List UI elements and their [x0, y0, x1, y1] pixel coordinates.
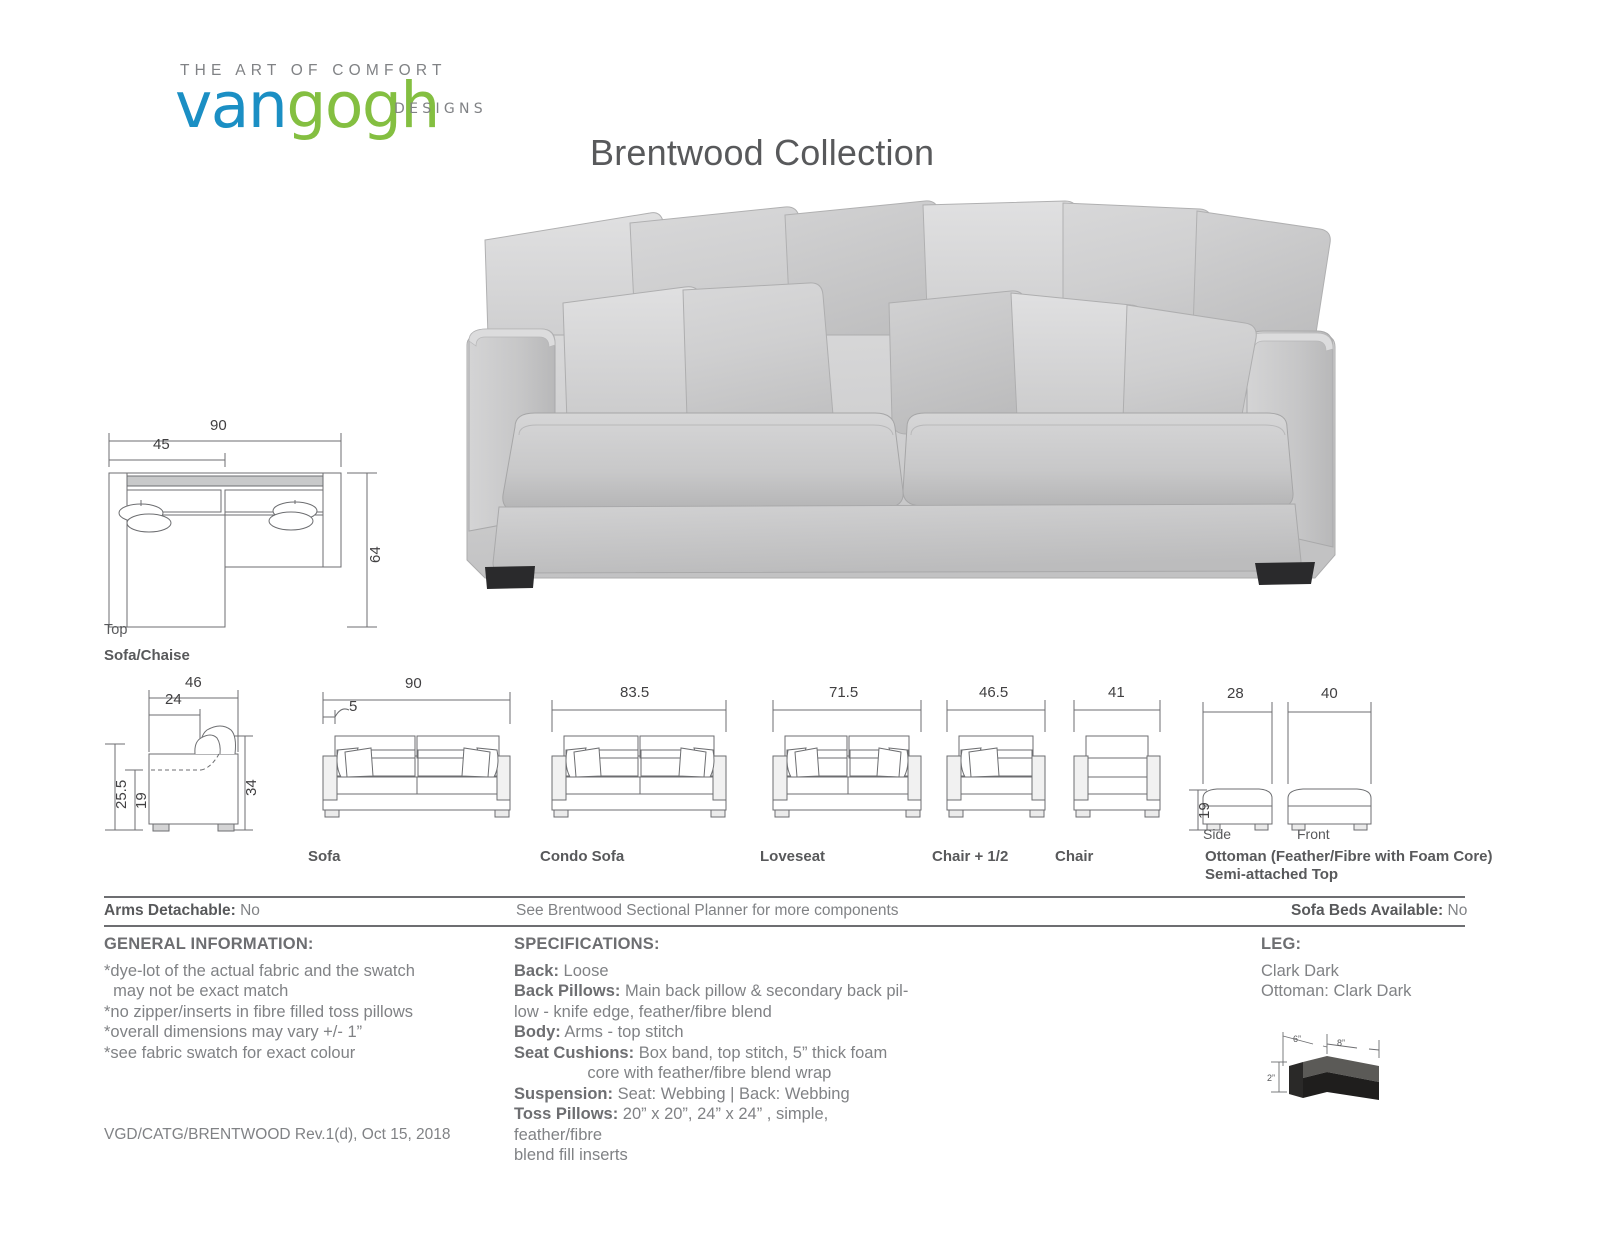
- spec-value: Box band, top stitch, 5” thick foam: [634, 1044, 887, 1062]
- divider-top: [104, 896, 1465, 898]
- divider-bottom: [104, 925, 1465, 927]
- brand-suffix: DESIGNS: [394, 79, 487, 139]
- leg-heading: LEG:: [1261, 934, 1541, 955]
- spec-value: Seat: Webbing | Back: Webbing: [613, 1085, 850, 1103]
- spec-row: core with feather/fibre blend wrap: [514, 1063, 914, 1084]
- arms-detachable-label: Arms Detachable:: [104, 902, 236, 919]
- general-information-line: *dye-lot of the actual fabric and the sw…: [104, 961, 504, 982]
- top-view-label: Top: [104, 622, 127, 638]
- leg-finish: Clark Dark: [1261, 961, 1541, 982]
- spec-value: blend fill inserts: [514, 1146, 628, 1164]
- general-information-line: may not be exact match: [104, 981, 504, 1002]
- spec-row: blend fill inserts: [514, 1145, 914, 1166]
- spec-value: Loose: [559, 962, 609, 980]
- top-view-width-label: 90: [210, 417, 227, 434]
- spec-label: Back Pillows:: [514, 982, 620, 1000]
- spec-value: low - knife edge, feather/fibre blend: [514, 1003, 772, 1021]
- side-seat-height-label: 19: [133, 792, 150, 809]
- ottoman-leg-finish: Ottoman: Clark Dark: [1261, 981, 1541, 1002]
- spec-value: core with feather/fibre blend wrap: [514, 1064, 831, 1082]
- brand-wordmark: vangogh DESIGNS: [175, 76, 485, 136]
- spec-row: Body: Arms - top stitch: [514, 1022, 914, 1043]
- side-arm-height-label: 34: [243, 779, 260, 796]
- spec-label: Back:: [514, 962, 559, 980]
- catalog-page: THE ART OF COMFORT vangogh DESIGNS Brent…: [0, 0, 1600, 1236]
- ottoman-front-label: Front: [1297, 826, 1330, 842]
- spec-value: Arms - top stitch: [561, 1023, 684, 1041]
- spec-label: Suspension:: [514, 1085, 613, 1103]
- elevation-condo-sofa: 83.5: [530, 672, 745, 832]
- spec-row: Suspension: Seat: Webbing | Back: Webbin…: [514, 1084, 914, 1105]
- general-information-block: GENERAL INFORMATION: *dye-lot of the act…: [104, 934, 504, 1063]
- specifications-block: SPECIFICATIONS: Back: Loose Back Pillows…: [514, 934, 914, 1166]
- elevation-label-loveseat: Loveseat: [760, 848, 825, 865]
- chair-and-half-width-label: 46.5: [979, 684, 1008, 701]
- sofa-beds-label: Sofa Beds Available:: [1291, 902, 1443, 919]
- spec-row: Toss Pillows: 20” x 20”, 24” x 24” , sim…: [514, 1104, 914, 1145]
- top-view-half-width-label: 45: [153, 436, 170, 453]
- ottoman-side-width-label: 28: [1227, 685, 1244, 702]
- leg-dim-top: 6”: [1293, 1034, 1301, 1044]
- top-view-depth-label: 64: [367, 546, 384, 563]
- elevation-label-chair: Chair: [1055, 848, 1093, 865]
- sectional-planner-note: See Brentwood Sectional Planner for more…: [516, 902, 899, 920]
- elevation-chair: 41: [1060, 672, 1185, 832]
- top-view-product-name: Sofa/Chaise: [104, 647, 190, 664]
- document-code: VGD/CATG/BRENTWOOD Rev.1(d), Oct 15, 201…: [104, 1126, 451, 1144]
- spec-row: Back Pillows: Main back pillow & seconda…: [514, 981, 914, 1002]
- elevation-loveseat: 71.5: [755, 672, 940, 832]
- arms-detachable: Arms Detachable: No: [104, 902, 260, 920]
- general-information-line: *overall dimensions may vary +/- 1”: [104, 1022, 504, 1043]
- elevation-sofa: 90 5: [305, 672, 530, 832]
- sofa-photograph: [455, 195, 1385, 605]
- general-information-heading: GENERAL INFORMATION:: [104, 934, 504, 955]
- chair-width-label: 41: [1108, 684, 1125, 701]
- spec-label: Seat Cushions:: [514, 1044, 634, 1062]
- spec-label: Toss Pillows:: [514, 1105, 618, 1123]
- ottoman-caption-line2: Semi-attached Top: [1205, 866, 1338, 883]
- spec-value: Main back pillow & secondary back pil-: [620, 982, 908, 1000]
- leg-dim-height: 2”: [1267, 1073, 1275, 1083]
- general-information-line: *no zipper/inserts in fibre filled toss …: [104, 1002, 504, 1023]
- condo-sofa-width-label: 83.5: [620, 684, 649, 701]
- leg-dim-side: 8”: [1337, 1038, 1345, 1048]
- ottoman-diagrams: 28 40 19: [1185, 672, 1435, 842]
- ottoman-caption-line1: Ottoman (Feather/Fibre with Foam Core): [1205, 848, 1493, 865]
- brand-word-van: van: [175, 69, 286, 142]
- top-view-diagram: 90 45 64: [95, 405, 395, 655]
- specifications-heading: SPECIFICATIONS:: [514, 934, 914, 955]
- general-information-line: *see fabric swatch for exact colour: [104, 1043, 504, 1064]
- loveseat-width-label: 71.5: [829, 684, 858, 701]
- elevation-label-condo-sofa: Condo Sofa: [540, 848, 624, 865]
- elevation-label-chair-and-half: Chair + 1/2: [932, 848, 1008, 865]
- elevation-label-sofa: Sofa: [308, 848, 341, 865]
- side-profile-diagram: 46 24 25.5 19 34: [95, 672, 295, 832]
- spec-label: Body:: [514, 1023, 561, 1041]
- leg-illustration: 6” 8” 2”: [1265, 1006, 1465, 1111]
- sofa-beds-available: Sofa Beds Available: No: [1291, 902, 1467, 920]
- spec-row: low - knife edge, feather/fibre blend: [514, 1002, 914, 1023]
- spec-row: Back: Loose: [514, 961, 914, 982]
- ottoman-front-width-label: 40: [1321, 685, 1338, 702]
- ottoman-side-label: Side: [1203, 826, 1231, 842]
- brand-logo: THE ART OF COMFORT vangogh DESIGNS: [175, 62, 485, 136]
- arms-detachable-value: No: [240, 902, 260, 919]
- side-back-height-label: 25.5: [113, 780, 130, 809]
- sofa-width-label: 90: [405, 675, 422, 692]
- spec-row: Seat Cushions: Box band, top stitch, 5” …: [514, 1043, 914, 1064]
- ottoman-height-label: 19: [1196, 802, 1213, 819]
- side-depth-label: 46: [185, 674, 202, 691]
- side-seat-depth-label: 24: [165, 691, 182, 708]
- page-title: Brentwood Collection: [590, 132, 934, 174]
- sofa-arm-label: 5: [349, 698, 357, 715]
- elevation-chair-and-half: 46.5: [935, 672, 1065, 832]
- sofa-beds-value: No: [1448, 902, 1468, 919]
- leg-block: LEG: Clark Dark Ottoman: Clark Dark: [1261, 934, 1541, 1002]
